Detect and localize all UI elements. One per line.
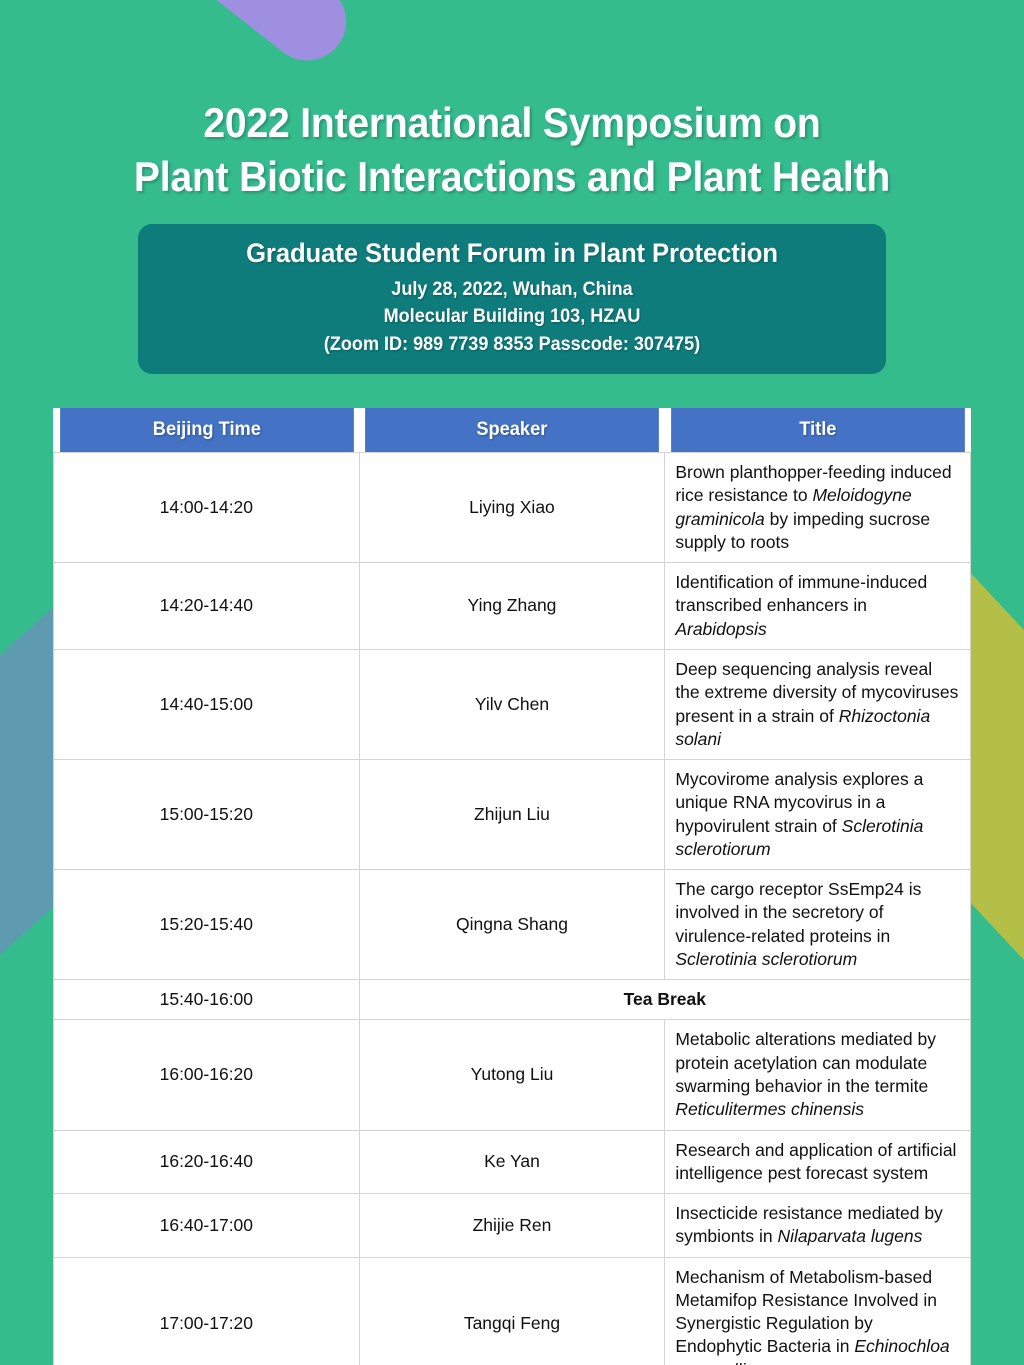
cell-time: 17:00-17:20 <box>54 1257 360 1365</box>
table-row: 15:20-15:40Qingna ShangThe cargo recepto… <box>54 870 971 980</box>
table-row: 15:40-16:00Tea Break <box>54 980 971 1020</box>
cell-title: Identification of immune-induced transcr… <box>665 563 971 650</box>
cell-time: 15:00-15:20 <box>54 760 360 870</box>
title-text: Identification of immune-induced transcr… <box>675 572 927 615</box>
column-header-time: Beijing Time <box>60 408 353 453</box>
table-row: 15:00-15:20Zhijun LiuMycovirome analysis… <box>54 760 971 870</box>
event-zoom-info: (Zoom ID: 989 7739 8353 Passcode: 307475… <box>157 331 868 359</box>
cell-session-label: Tea Break <box>359 980 970 1020</box>
forum-name: Graduate Student Forum in Plant Protecti… <box>157 238 868 269</box>
schedule-table: Beijing Time Speaker Title 14:00-14:20Li… <box>53 408 971 1365</box>
title-text: Metabolic alterations mediated by protei… <box>675 1029 936 1096</box>
title-line-1: 2022 International Symposium on <box>36 96 988 150</box>
species-name: Arabidopsis <box>675 619 766 639</box>
cell-speaker: Ying Zhang <box>359 563 665 650</box>
table-row: 14:20-14:40Ying ZhangIdentification of i… <box>54 563 971 650</box>
cell-time: 14:40-15:00 <box>54 650 360 760</box>
cell-time: 15:20-15:40 <box>54 870 360 980</box>
column-header-title: Title <box>671 408 964 453</box>
cell-title: Insecticide resistance mediated by symbi… <box>665 1194 971 1258</box>
conference-poster: 2022 International Symposium on Plant Bi… <box>0 0 1024 1365</box>
cell-title: The cargo receptor SsEmp24 is involved i… <box>665 870 971 980</box>
cell-time: 15:40-16:00 <box>54 980 360 1020</box>
column-header-speaker: Speaker <box>365 408 658 453</box>
cell-title: Mechanism of Metabolism-based Metamifop … <box>665 1257 971 1365</box>
species-name: Reticulitermes chinensis <box>675 1099 864 1119</box>
cell-speaker: Tangqi Feng <box>359 1257 665 1365</box>
title-text: The cargo receptor SsEmp24 is involved i… <box>675 879 921 946</box>
cell-speaker: Qingna Shang <box>359 870 665 980</box>
cell-title: Research and application of artificial i… <box>665 1130 971 1194</box>
cell-speaker: Ke Yan <box>359 1130 665 1194</box>
cell-speaker: Zhijun Liu <box>359 760 665 870</box>
title-line-2: Plant Biotic Interactions and Plant Heal… <box>36 150 988 204</box>
cell-time: 16:40-17:00 <box>54 1194 360 1258</box>
cell-time: 14:20-14:40 <box>54 563 360 650</box>
cell-time: 14:00-14:20 <box>54 453 360 563</box>
cell-time: 16:00-16:20 <box>54 1020 360 1130</box>
table-header-row: Beijing Time Speaker Title <box>54 408 971 453</box>
table-row: 16:00-16:20Yutong LiuMetabolic alteratio… <box>54 1020 971 1130</box>
species-name: Nilaparvata lugens <box>777 1226 922 1246</box>
schedule-table-container: Beijing Time Speaker Title 14:00-14:20Li… <box>53 408 971 1365</box>
table-row: 16:20-16:40Ke YanResearch and applicatio… <box>54 1130 971 1194</box>
event-venue: Molecular Building 103, HZAU <box>157 303 868 331</box>
table-row: 16:40-17:00Zhijie RenInsecticide resista… <box>54 1194 971 1258</box>
cell-speaker: Yilv Chen <box>359 650 665 760</box>
table-row: 17:00-17:20Tangqi FengMechanism of Metab… <box>54 1257 971 1365</box>
cell-title: Deep sequencing analysis reveal the extr… <box>665 650 971 760</box>
cell-speaker: Zhijie Ren <box>359 1194 665 1258</box>
poster-title: 2022 International Symposium on Plant Bi… <box>36 0 988 204</box>
cell-time: 16:20-16:40 <box>54 1130 360 1194</box>
species-name: Sclerotinia sclerotiorum <box>675 949 857 969</box>
cell-speaker: Liying Xiao <box>359 453 665 563</box>
cell-speaker: Yutong Liu <box>359 1020 665 1130</box>
event-info-box: Graduate Student Forum in Plant Protecti… <box>138 224 886 375</box>
table-row: 14:00-14:20Liying XiaoBrown planthopper-… <box>54 453 971 563</box>
cell-title: Brown planthopper-feeding induced rice r… <box>665 453 971 563</box>
schedule-table-body: 14:00-14:20Liying XiaoBrown planthopper-… <box>54 453 971 1365</box>
table-row: 14:40-15:00Yilv ChenDeep sequencing anal… <box>54 650 971 760</box>
title-text: Research and application of artificial i… <box>675 1140 956 1183</box>
event-date-location: July 28, 2022, Wuhan, China <box>157 276 868 304</box>
cell-title: Mycovirome analysis explores a unique RN… <box>665 760 971 870</box>
cell-title: Metabolic alterations mediated by protei… <box>665 1020 971 1130</box>
